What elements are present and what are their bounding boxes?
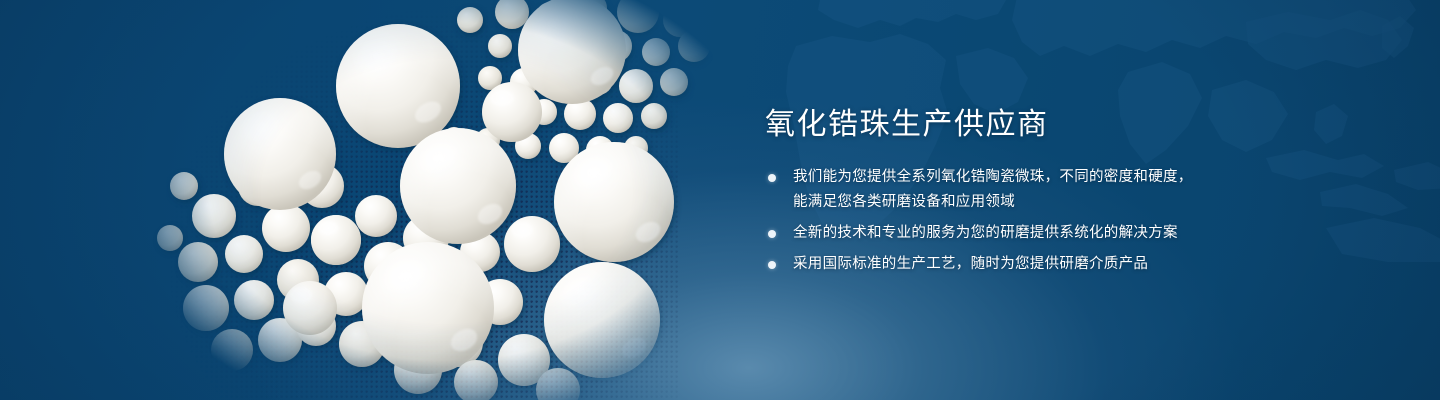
zirconia-beads-image (140, 0, 730, 400)
bullet-dot-icon (768, 230, 776, 238)
banner-content: 氧化锆珠生产供应商 我们能为您提供全系列氧化锆陶瓷微珠，不同的密度和硬度， 能满… (765, 108, 1385, 277)
feature-text-line1: 我们能为您提供全系列氧化锆陶瓷微珠，不同的密度和硬度， (793, 169, 1193, 185)
banner-headline: 氧化锆珠生产供应商 (765, 108, 1385, 143)
bullet-dot-icon (768, 174, 776, 182)
feature-text-line1: 采用国际标准的生产工艺，随时为您提供研磨介质产品 (793, 256, 1148, 272)
hero-banner: 氧化锆珠生产供应商 我们能为您提供全系列氧化锆陶瓷微珠，不同的密度和硬度， 能满… (0, 0, 1440, 400)
feature-list-item: 采用国际标准的生产工艺，随时为您提供研磨介质产品 (765, 252, 1385, 277)
feature-list-item: 我们能为您提供全系列氧化锆陶瓷微珠，不同的密度和硬度， 能满足您各类研磨设备和应… (765, 165, 1385, 215)
feature-list-item: 全新的技术和专业的服务为您的研磨提供系统化的解决方案 (765, 221, 1385, 246)
feature-text-line2: 能满足您各类研磨设备和应用领域 (793, 190, 1385, 215)
bullet-dot-icon (768, 261, 776, 269)
feature-list: 我们能为您提供全系列氧化锆陶瓷微珠，不同的密度和硬度， 能满足您各类研磨设备和应… (765, 165, 1385, 277)
feature-text-line1: 全新的技术和专业的服务为您的研磨提供系统化的解决方案 (793, 225, 1178, 241)
